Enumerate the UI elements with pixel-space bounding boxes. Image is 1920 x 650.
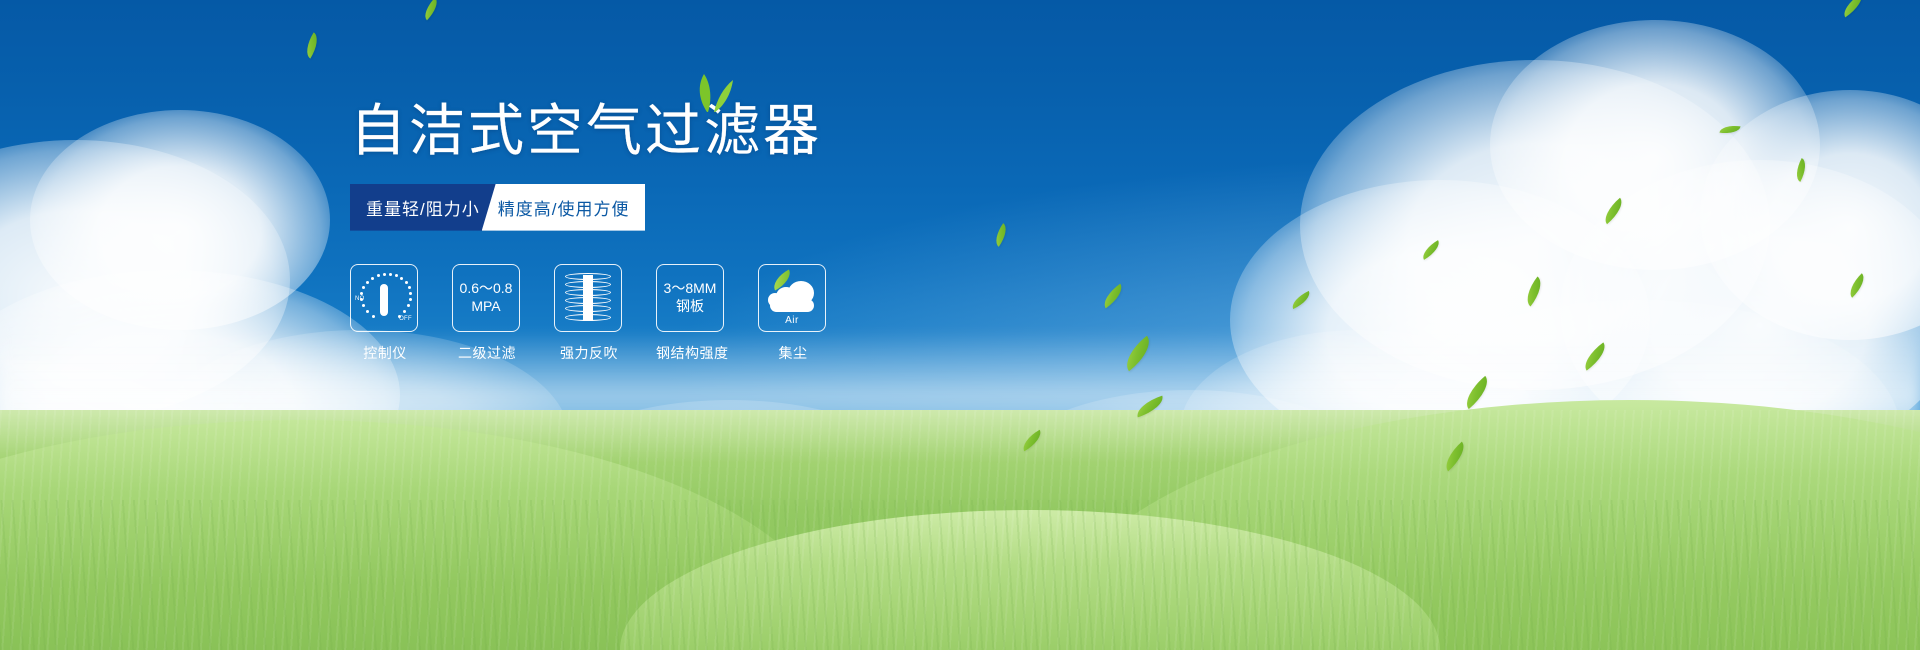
feature-item-steel-strength: 3〜8MM 钢板 钢结构强度 bbox=[656, 264, 726, 363]
feature-item-secondary-filter: 0.6〜0.8 MPA 二级过滤 bbox=[452, 264, 522, 363]
gauge-needle bbox=[380, 284, 388, 316]
cloud-base bbox=[770, 299, 814, 312]
feature-label: 控制仪 bbox=[350, 343, 420, 363]
pressure-value-line2: MPA bbox=[460, 298, 513, 316]
ribbon-segment-left: 重量轻/阻力小 bbox=[350, 184, 496, 231]
banner-content: 自洁式空气过滤器 重量轻/阻力小 精度高/使用方便 bbox=[350, 100, 1050, 363]
feature-label: 强力反吹 bbox=[554, 343, 624, 363]
air-cloud-icon: Air bbox=[766, 273, 818, 323]
feature-icon-box: Air bbox=[758, 264, 826, 332]
feature-item-backblow: 强力反吹 bbox=[554, 264, 624, 363]
pressure-value-line1: 0.6〜0.8 bbox=[460, 280, 513, 298]
feature-ribbon: 重量轻/阻力小 精度高/使用方便 bbox=[350, 184, 672, 231]
steel-thickness-line2: 钢板 bbox=[664, 298, 717, 316]
feature-icon-list: NO OFF 控制仪 0.6〜0.8 MPA 二级过滤 bbox=[350, 264, 1050, 363]
steel-plate-text-icon: 3〜8MM 钢板 bbox=[664, 280, 717, 315]
air-label: Air bbox=[766, 315, 818, 326]
gauge-label-no: NO bbox=[355, 296, 365, 302]
ribbon-segment-right: 精度高/使用方便 bbox=[482, 184, 646, 231]
feature-item-dust-collection: Air 集尘 bbox=[758, 264, 828, 363]
feature-icon-box: 3〜8MM 钢板 bbox=[656, 264, 724, 332]
grass-texture-dark bbox=[0, 500, 1920, 650]
filter-stack-icon bbox=[565, 273, 611, 323]
feature-icon-box: NO OFF bbox=[350, 264, 418, 332]
steel-thickness-line1: 3〜8MM bbox=[664, 280, 717, 298]
pressure-text-icon: 0.6〜0.8 MPA bbox=[460, 280, 513, 315]
feature-label: 集尘 bbox=[758, 343, 828, 363]
gauge-dial-icon: NO OFF bbox=[355, 272, 413, 324]
feature-label: 钢结构强度 bbox=[656, 343, 726, 363]
feature-item-controller: NO OFF 控制仪 bbox=[350, 264, 420, 363]
leaf-sprout-icon bbox=[687, 72, 735, 112]
gauge-label-off: OFF bbox=[399, 316, 412, 322]
feature-icon-box bbox=[554, 264, 622, 332]
feature-icon-box: 0.6〜0.8 MPA bbox=[452, 264, 520, 332]
feature-label: 二级过滤 bbox=[452, 343, 522, 363]
hero-banner: 自洁式空气过滤器 重量轻/阻力小 精度高/使用方便 bbox=[0, 0, 1920, 650]
